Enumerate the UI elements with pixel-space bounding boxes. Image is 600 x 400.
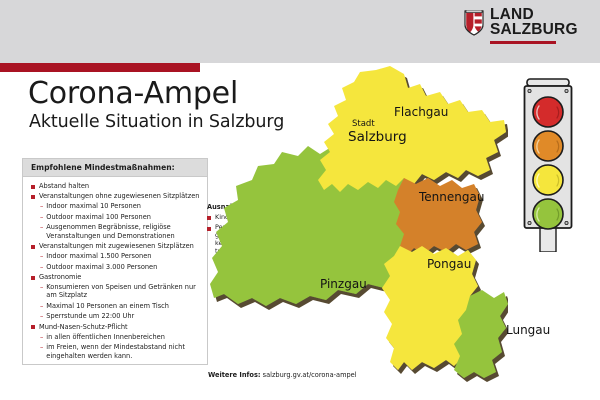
dash-bullet-icon: – — [40, 283, 43, 291]
map-label-stadt-salzburg-line1: Stadt — [352, 119, 375, 129]
measure-item: Gastronomie — [31, 273, 201, 281]
more-info-url[interactable]: salzburg.gv.at/corona-ampel — [263, 371, 357, 379]
map-label-pinzgau: Pinzgau — [320, 277, 367, 291]
square-bullet-icon — [31, 195, 35, 199]
more-info-label: Weitere Infos: — [208, 371, 261, 379]
measure-item: Veranstaltungen mit zugewiesenen Sitzplä… — [31, 242, 201, 250]
dash-bullet-icon: – — [40, 223, 43, 231]
square-bullet-icon — [31, 276, 35, 280]
measure-subitem: –Indoor maximal 10 Personen — [40, 202, 201, 210]
measure-subitem: –Konsumieren von Speisen und Getränken n… — [40, 283, 201, 299]
measure-item-label: Abstand halten — [39, 182, 89, 190]
dash-bullet-icon: – — [40, 333, 43, 341]
map-region-flachgau — [318, 66, 506, 192]
map-label-tennengau: Tennengau — [419, 190, 484, 204]
measure-subitem-label: Sperrstunde um 22:00 Uhr — [46, 312, 134, 320]
dash-bullet-icon: – — [40, 302, 43, 310]
dash-bullet-icon: – — [40, 252, 43, 260]
infographic-page: LAND SALZBURG Corona-Ampel Aktuelle Situ… — [0, 0, 600, 400]
square-bullet-icon — [31, 325, 35, 329]
measures-panel: Empfohlene Mindestmaßnahmen: Abstand hal… — [22, 158, 208, 365]
measure-subitem: –im Freien, wenn der Mindestabstand nich… — [40, 343, 201, 359]
measure-subitem-label: Indoor maximal 10 Personen — [46, 202, 141, 210]
measure-subitem-label: Outdoor maximal 100 Personen — [46, 213, 151, 221]
dash-bullet-icon: – — [40, 312, 43, 320]
dash-bullet-icon: – — [40, 263, 43, 271]
measure-subitem-label: im Freien, wenn der Mindestabstand nicht… — [46, 343, 201, 359]
square-bullet-icon — [31, 245, 35, 249]
measure-item-label: Gastronomie — [39, 273, 81, 281]
measure-item: Abstand halten — [31, 182, 201, 190]
measure-subitem-label: Maximal 10 Personen an einem Tisch — [46, 302, 169, 310]
square-bullet-icon — [31, 185, 35, 189]
measure-subitem: –Ausgenommen Begräbnisse, religiöse Vera… — [40, 223, 201, 239]
measure-item: Veranstaltungen ohne zugewiesenen Sitzpl… — [31, 192, 201, 200]
measure-subitem: –Indoor maximal 1.500 Personen — [40, 252, 201, 260]
measure-item-label: Veranstaltungen ohne zugewiesenen Sitzpl… — [39, 192, 199, 200]
map-label-lungau: Lungau — [506, 323, 550, 337]
land-salzburg-logo: LAND SALZBURG — [464, 8, 590, 50]
dash-bullet-icon: – — [40, 202, 43, 210]
measures-list: Abstand haltenVeranstaltungen ohne zugew… — [23, 177, 207, 366]
measures-heading: Empfohlene Mindestmaßnahmen: — [23, 159, 207, 177]
measure-subitem-label: Konsumieren von Speisen und Getränken nu… — [46, 283, 201, 299]
salzburg-coat-of-arms-icon — [464, 10, 484, 36]
dash-bullet-icon: – — [40, 213, 43, 221]
measure-subitem: –Maximal 10 Personen an einem Tisch — [40, 302, 201, 310]
brand-red-bar — [0, 63, 200, 72]
measure-item-label: Veranstaltungen mit zugewiesenen Sitzplä… — [39, 242, 194, 250]
measure-subitem: –Outdoor maximal 100 Personen — [40, 213, 201, 221]
measure-item-label: Mund-Nasen-Schutz-Pflicht — [39, 323, 128, 331]
map-label-flachgau: Flachgau — [394, 105, 448, 119]
measure-subitem: –Outdoor maximal 3.000 Personen — [40, 263, 201, 271]
salzburg-district-map — [208, 66, 508, 392]
logo-line-2: SALZBURG — [490, 23, 578, 38]
measure-subitem-label: Outdoor maximal 3.000 Personen — [46, 263, 157, 271]
logo-underline — [490, 41, 556, 44]
map-label-stadt-salzburg-line2: Salzburg — [348, 129, 407, 145]
measure-subitem-label: Ausgenommen Begräbnisse, religiöse Veran… — [46, 223, 201, 239]
map-label-pongau: Pongau — [427, 257, 471, 271]
measure-subitem-label: in allen öffentlichen Innenbereichen — [46, 333, 165, 341]
traffic-light-graphic — [519, 76, 577, 252]
measure-subitem-label: Indoor maximal 1.500 Personen — [46, 252, 151, 260]
measure-item: Mund-Nasen-Schutz-Pflicht — [31, 323, 201, 331]
dash-bullet-icon: – — [40, 343, 43, 351]
page-title: Corona-Ampel — [28, 76, 238, 111]
more-info-line: Weitere Infos: salzburg.gv.at/corona-amp… — [208, 371, 357, 379]
measure-subitem: –in allen öffentlichen Innenbereichen — [40, 333, 201, 341]
measure-subitem: –Sperrstunde um 22:00 Uhr — [40, 312, 201, 320]
